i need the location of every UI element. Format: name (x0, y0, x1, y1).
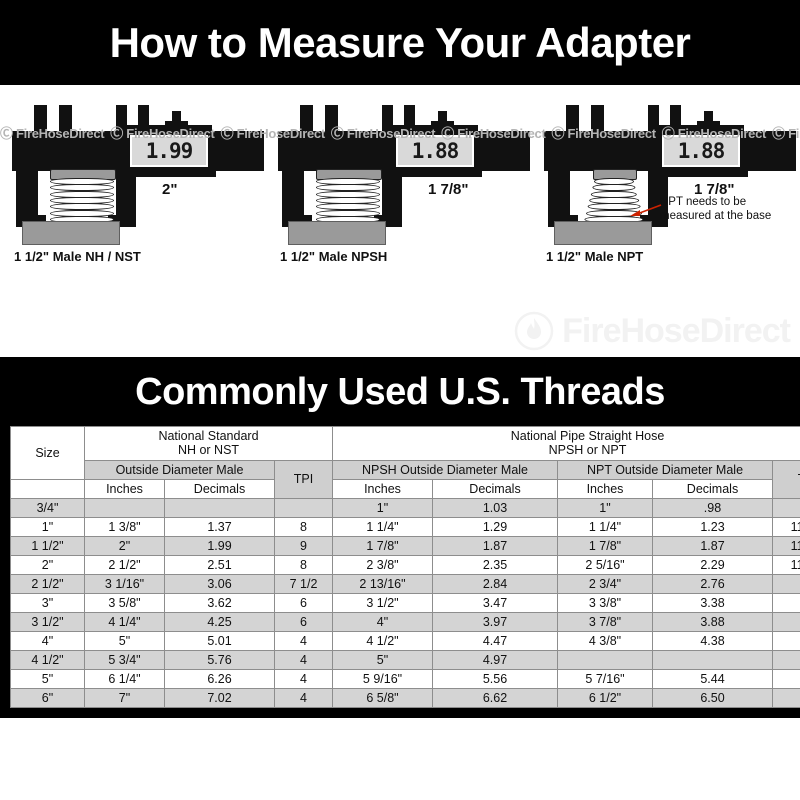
cell-nh-tpi (275, 498, 333, 517)
cell-np-tpi: 11 1/2 (773, 517, 800, 536)
header-row-groups: Size National Standard NH or NST Nationa… (11, 427, 800, 461)
caliper-reading: 1.88 (412, 139, 459, 163)
header-row-subgroups: Outside Diameter Male TPI NPSH Outside D… (11, 460, 800, 479)
cell-npt-inches: 6 1/2" (558, 688, 653, 707)
npt-note: NPT needs to bemeasured at the base (660, 195, 771, 224)
table-title: Commonly Used U.S. Threads (135, 371, 665, 414)
cell-npt-inches: 3 3/8" (558, 593, 653, 612)
npt-arrow-icon (628, 203, 662, 217)
brand-watermark-text: FireHoseDirect (562, 312, 790, 351)
cell-npsh-inches: 1 1/4" (333, 517, 433, 536)
cell-nh-tpi: 6 (275, 612, 333, 631)
cell-size: 3" (11, 593, 85, 612)
cell-npt-decimals: 2.76 (653, 574, 773, 593)
cell-npsh-inches: 3 1/2" (333, 593, 433, 612)
cell-npt-decimals: 2.29 (653, 555, 773, 574)
cell-npsh-inches: 2 13/16" (333, 574, 433, 593)
page-header-banner: How to Measure Your Adapter (0, 0, 800, 85)
cell-nh-inches: 5" (85, 631, 165, 650)
cell-nh-decimals: 3.06 (165, 574, 275, 593)
cell-nh-inches: 6 1/4" (85, 669, 165, 688)
cell-npt-inches: 1 7/8" (558, 536, 653, 555)
cell-nh-decimals: 1.99 (165, 536, 275, 555)
caliper-diagram: 1.881 7/8"1 1/2" Male NPSH (266, 97, 532, 272)
cell-size: 2 1/2" (11, 574, 85, 593)
cell-nh-tpi: 4 (275, 688, 333, 707)
cell-npsh-decimals: 3.97 (433, 612, 558, 631)
cell-nh-inches: 3 5/8" (85, 593, 165, 612)
header-nh-inches: Inches (85, 479, 165, 498)
cell-np-tpi: 8 (773, 669, 800, 688)
npt-note-line1: NPT needs to be (660, 196, 746, 208)
cell-np-tpi: 11 1/2 (773, 536, 800, 555)
threaded-fitting (582, 169, 646, 229)
header-npsh-decimals: Decimals (433, 479, 558, 498)
page-title: How to Measure Your Adapter (110, 19, 691, 67)
table-head: Size National Standard NH or NST Nationa… (11, 427, 800, 499)
fitting-base-block (554, 221, 652, 245)
cell-npsh-decimals: 2.84 (433, 574, 558, 593)
cell-np-tpi: 8 (773, 574, 800, 593)
cell-npt-inches: 1 1/4" (558, 517, 653, 536)
threads-table: Size National Standard NH or NST Nationa… (10, 426, 800, 708)
table-row: 6"7"7.0246 5/8"6.626 1/2"6.508 (11, 688, 800, 707)
cell-size: 3 1/2" (11, 612, 85, 631)
table-row: 3 1/2"4 1/4"4.2564"3.973 7/8"3.888 (11, 612, 800, 631)
cell-size: 6" (11, 688, 85, 707)
cell-npsh-inches: 5 9/16" (333, 669, 433, 688)
cell-nh-inches: 4 1/4" (85, 612, 165, 631)
cell-nh-tpi: 4 (275, 669, 333, 688)
npt-note-line2: measured at the base (660, 210, 771, 222)
table-row: 4 1/2"5 3/4"5.7645"4.978 (11, 650, 800, 669)
threaded-fitting (50, 169, 114, 229)
table-row: 2 1/2"3 1/16"3.067 1/22 13/16"2.842 3/4"… (11, 574, 800, 593)
header-size: Size (11, 427, 85, 480)
cell-nh-decimals: 4.25 (165, 612, 275, 631)
caliper-lug (464, 167, 482, 177)
header-npt-inches: Inches (558, 479, 653, 498)
header-nh-tpi: TPI (275, 460, 333, 498)
table-body: 3/4"1"1.031".98141"1 3/8"1.3781 1/4"1.29… (11, 498, 800, 707)
cell-np-tpi: 14 (773, 498, 800, 517)
caliper-body: 1.881 7/8" (278, 105, 530, 235)
cell-nh-inches (85, 498, 165, 517)
cell-npsh-decimals: 4.97 (433, 650, 558, 669)
cell-npsh-decimals: 1.29 (433, 517, 558, 536)
cell-npsh-inches: 1 7/8" (333, 536, 433, 555)
table-header-banner: Commonly Used U.S. Threads (0, 357, 800, 426)
table-row: 3/4"1"1.031".9814 (11, 498, 800, 517)
caliper-lcd-display: 1.99 (130, 135, 208, 167)
diagram-caption: 1 1/2" Male NPSH (280, 249, 387, 264)
cell-nh-inches: 5 3/4" (85, 650, 165, 669)
cell-nh-inches: 2" (85, 536, 165, 555)
cell-npt-inches (558, 650, 653, 669)
cell-nh-decimals: 7.02 (165, 688, 275, 707)
header-group-nh-line2: NH or NST (178, 443, 239, 457)
cell-npt-inches: 3 7/8" (558, 612, 653, 631)
header-group-national-standard: National Standard NH or NST (85, 427, 333, 461)
header-group-nps-line2: NPSH or NPT (549, 443, 627, 457)
cell-nh-tpi: 8 (275, 517, 333, 536)
measurement-diagrams-section: 1.992"1 1/2" Male NH / NST1.881 7/8"1 1/… (0, 85, 800, 357)
cell-nh-inches: 1 3/8" (85, 517, 165, 536)
table-row: 3"3 5/8"3.6263 1/2"3.473 3/8"3.388 (11, 593, 800, 612)
cell-nh-tpi: 4 (275, 650, 333, 669)
cell-npt-decimals: .98 (653, 498, 773, 517)
header-nh-decimals: Decimals (165, 479, 275, 498)
cell-nh-decimals: 6.26 (165, 669, 275, 688)
cell-npt-decimals (653, 650, 773, 669)
cell-npsh-decimals: 2.35 (433, 555, 558, 574)
measurement-callout: 2" (162, 181, 177, 198)
cell-npt-inches: 2 5/16" (558, 555, 653, 574)
caliper-lug (198, 167, 216, 177)
table-row: 1 1/2"2"1.9991 7/8"1.871 7/8"1.8711 1/2 (11, 536, 800, 555)
cell-nh-tpi: 8 (275, 555, 333, 574)
caliper-reading: 1.88 (678, 139, 725, 163)
caliper-reading: 1.99 (146, 139, 193, 163)
cell-npt-inches: 5 7/16" (558, 669, 653, 688)
header-size-blank (11, 479, 85, 498)
table-row: 4"5"5.0144 1/2"4.474 3/8"4.388 (11, 631, 800, 650)
cell-npsh-decimals: 6.62 (433, 688, 558, 707)
cell-npsh-decimals: 1.03 (433, 498, 558, 517)
table-row: 1"1 3/8"1.3781 1/4"1.291 1/4"1.2311 1/2 (11, 517, 800, 536)
fitting-base-block (22, 221, 120, 245)
cell-npt-decimals: 1.87 (653, 536, 773, 555)
cell-np-tpi: 8 (773, 688, 800, 707)
cell-nh-tpi: 9 (275, 536, 333, 555)
cell-npt-decimals: 3.38 (653, 593, 773, 612)
diagram-row: 1.992"1 1/2" Male NH / NST1.881 7/8"1 1/… (0, 85, 800, 272)
table-row: 5"6 1/4"6.2645 9/16"5.565 7/16"5.448 (11, 669, 800, 688)
caliper-diagram: 1.992"1 1/2" Male NH / NST (0, 97, 266, 272)
cell-nh-decimals: 2.51 (165, 555, 275, 574)
table-row: 2"2 1/2"2.5182 3/8"2.352 5/16"2.2911 1/2 (11, 555, 800, 574)
caliper-lcd-display: 1.88 (662, 135, 740, 167)
brand-watermark: FireHoseDirect (514, 311, 790, 351)
cell-nh-inches: 3 1/16" (85, 574, 165, 593)
header-group-national-pipe-straight-hose: National Pipe Straight Hose NPSH or NPT (333, 427, 800, 461)
cell-npt-inches: 1" (558, 498, 653, 517)
cell-nh-tpi: 7 1/2 (275, 574, 333, 593)
cell-npt-decimals: 1.23 (653, 517, 773, 536)
caliper-lcd-display: 1.88 (396, 135, 474, 167)
cell-np-tpi: 8 (773, 650, 800, 669)
cell-size: 4 1/2" (11, 650, 85, 669)
cell-npt-decimals: 3.88 (653, 612, 773, 631)
cell-npsh-inches: 2 3/8" (333, 555, 433, 574)
cell-npsh-inches: 6 5/8" (333, 688, 433, 707)
cell-size: 4" (11, 631, 85, 650)
cell-np-tpi: 11 1/2 (773, 555, 800, 574)
caliper-body: 1.992" (12, 105, 264, 235)
cell-npt-decimals: 6.50 (653, 688, 773, 707)
cell-npsh-decimals: 3.47 (433, 593, 558, 612)
cell-np-tpi: 8 (773, 631, 800, 650)
cell-size: 3/4" (11, 498, 85, 517)
diagram-caption: 1 1/2" Male NPT (546, 249, 643, 264)
cell-size: 1 1/2" (11, 536, 85, 555)
cell-npsh-inches: 5" (333, 650, 433, 669)
cell-size: 2" (11, 555, 85, 574)
cell-nh-inches: 2 1/2" (85, 555, 165, 574)
cell-npsh-decimals: 4.47 (433, 631, 558, 650)
cell-nh-tpi: 4 (275, 631, 333, 650)
cell-npsh-decimals: 1.87 (433, 536, 558, 555)
cell-npsh-decimals: 5.56 (433, 669, 558, 688)
cell-nh-decimals: 5.01 (165, 631, 275, 650)
cell-npsh-inches: 1" (333, 498, 433, 517)
flame-logo-icon (514, 311, 554, 351)
cell-npt-decimals: 4.38 (653, 631, 773, 650)
caliper-lug (730, 167, 748, 177)
cell-npsh-inches: 4 1/2" (333, 631, 433, 650)
cell-npsh-inches: 4" (333, 612, 433, 631)
cell-nh-inches: 7" (85, 688, 165, 707)
cell-np-tpi: 8 (773, 593, 800, 612)
header-npt-decimals: Decimals (653, 479, 773, 498)
cell-size: 5" (11, 669, 85, 688)
cell-nh-tpi: 6 (275, 593, 333, 612)
header-group-nps-line1: National Pipe Straight Hose (511, 429, 665, 443)
cell-np-tpi: 8 (773, 612, 800, 631)
header-npsh-inches: Inches (333, 479, 433, 498)
fitting-base-block (288, 221, 386, 245)
caliper-diagram: 1.881 7/8"NPT needs to bemeasured at the… (532, 97, 798, 272)
cell-npt-inches: 4 3/8" (558, 631, 653, 650)
header-nh-od-male: Outside Diameter Male (85, 460, 275, 479)
cell-nh-decimals (165, 498, 275, 517)
header-row-units: Inches Decimals Inches Decimals Inches D… (11, 479, 800, 498)
cell-nh-decimals: 5.76 (165, 650, 275, 669)
header-group-nh-line1: National Standard (158, 429, 258, 443)
measurement-callout: 1 7/8" (428, 181, 468, 198)
header-np-tpi: TPI (773, 460, 800, 498)
threaded-fitting (316, 169, 380, 229)
header-npt-od-male: NPT Outside Diameter Male (558, 460, 773, 479)
cell-nh-decimals: 3.62 (165, 593, 275, 612)
diagram-caption: 1 1/2" Male NH / NST (14, 249, 141, 264)
threads-table-wrapper: Size National Standard NH or NST Nationa… (0, 426, 800, 718)
cell-npt-decimals: 5.44 (653, 669, 773, 688)
cell-size: 1" (11, 517, 85, 536)
cell-npt-inches: 2 3/4" (558, 574, 653, 593)
header-npsh-od-male: NPSH Outside Diameter Male (333, 460, 558, 479)
cell-nh-decimals: 1.37 (165, 517, 275, 536)
